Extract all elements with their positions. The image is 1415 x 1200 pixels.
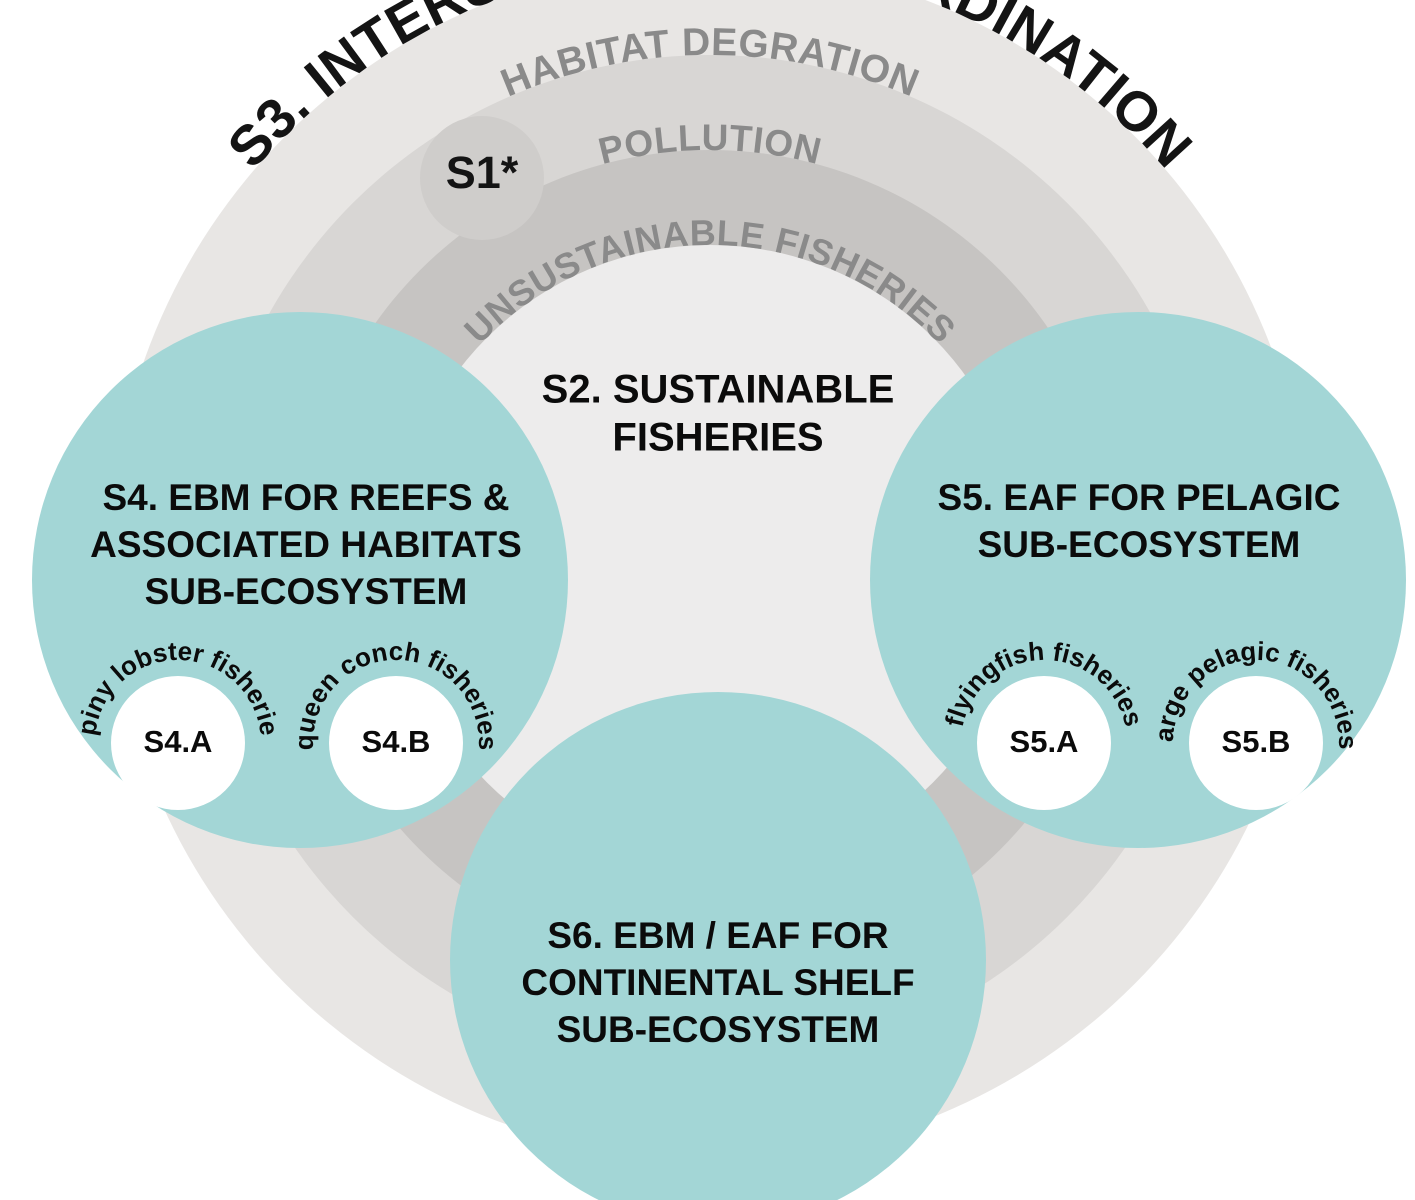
bubble-s4-title-line-1: S4. EBM FOR REEFS &: [102, 477, 509, 518]
bubble-s6-title-line-2: CONTINENTAL SHELF: [521, 962, 914, 1003]
bubble-s4-title-line-3: SUB-ECOSYSTEM: [145, 571, 468, 612]
ecosystem-venn-diagram: S3. INTERSECTORAL COORDINATION HABITAT D…: [0, 0, 1415, 1200]
core-label-line-2: FISHERIES: [612, 416, 823, 460]
sub-circle-s5a-code: S5.A: [1010, 724, 1079, 759]
bubble-s6-title-line-3: SUB-ECOSYSTEM: [557, 1009, 880, 1050]
core-label-line-1: S2. SUSTAINABLE: [542, 368, 895, 412]
bubble-s6-title-line-1: S6. EBM / EAF FOR: [547, 915, 888, 956]
bubble-s5-pelagic[interactable]: [870, 312, 1406, 848]
s1-blob-label: S1*: [446, 147, 519, 198]
sub-circle-s4a-code: S4.A: [144, 724, 213, 759]
bubble-s5-title-line-1: S5. EAF FOR PELAGIC: [938, 477, 1341, 518]
sub-circle-s5b-code: S5.B: [1222, 724, 1291, 759]
bubble-s5-title-line-2: SUB-ECOSYSTEM: [978, 524, 1301, 565]
diagram-canvas: S3. INTERSECTORAL COORDINATION HABITAT D…: [0, 0, 1415, 1200]
sub-circle-s4b-code: S4.B: [362, 724, 431, 759]
bubble-s4-title-line-2: ASSOCIATED HABITATS: [90, 524, 522, 565]
